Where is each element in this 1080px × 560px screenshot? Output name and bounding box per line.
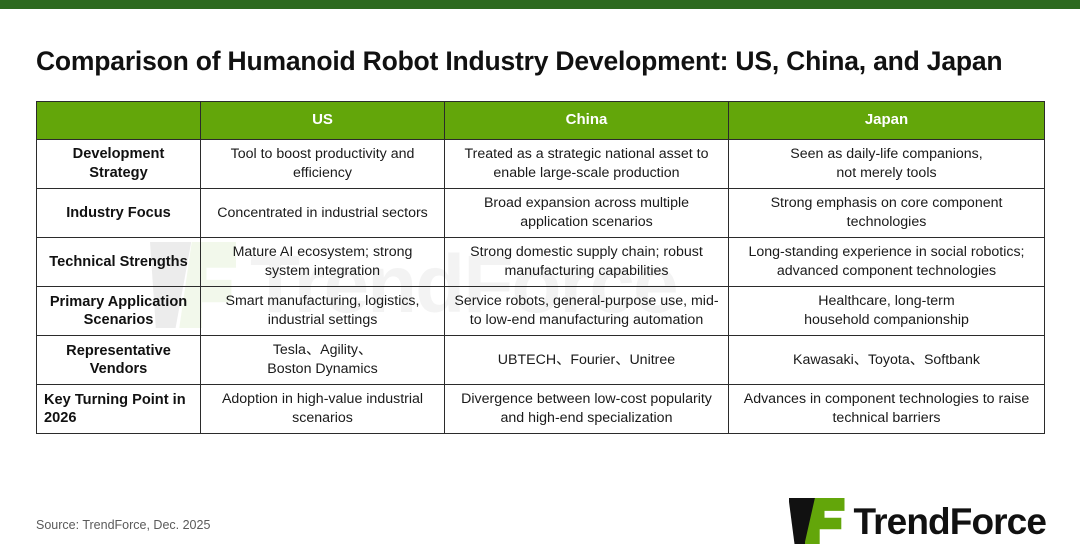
row-label-primary-application-scenarios: Primary Application Scenarios — [37, 287, 201, 336]
page-title: Comparison of Humanoid Robot Industry De… — [36, 46, 1056, 77]
cell-primary-application-scenarios-us: Smart manufacturing, logistics, industri… — [201, 287, 445, 336]
cell-industry-focus-us: Concentrated in industrial sectors — [201, 189, 445, 238]
cell-technical-strengths-china: Strong domestic supply chain; robust man… — [445, 238, 729, 287]
row-label-key-turning-point-2026: Key Turning Point in 2026 — [37, 385, 201, 434]
cell-representative-vendors-japan: Kawasaki、Toyota、Softbank — [729, 336, 1045, 385]
top-accent-bar — [0, 0, 1080, 9]
row-label-development-strategy: Development Strategy — [37, 140, 201, 189]
comparison-table: US China Japan Development Strategy Tool… — [36, 101, 1045, 434]
cell-primary-application-scenarios-japan: Healthcare, long-term household companio… — [729, 287, 1045, 336]
table-row: Key Turning Point in 2026 Adoption in hi… — [37, 385, 1045, 434]
logo-wordmark: TrendForce — [854, 503, 1047, 540]
table-header-row: US China Japan — [37, 102, 1045, 140]
table-header-us: US — [201, 102, 445, 140]
cell-technical-strengths-japan: Long-standing experience in social robot… — [729, 238, 1045, 287]
cell-development-strategy-japan: Seen as daily-life companions, not merel… — [729, 140, 1045, 189]
table-header-corner — [37, 102, 201, 140]
table-row: Representative Vendors Tesla、Agility、 Bo… — [37, 336, 1045, 385]
trendforce-logo: TrendForce — [789, 497, 1047, 545]
table-row: Primary Application Scenarios Smart manu… — [37, 287, 1045, 336]
cell-industry-focus-china: Broad expansion across multiple applicat… — [445, 189, 729, 238]
table-body: Development Strategy Tool to boost produ… — [37, 140, 1045, 434]
row-label-representative-vendors: Representative Vendors — [37, 336, 201, 385]
trendforce-logo-mark-icon — [789, 498, 845, 544]
cell-industry-focus-japan: Strong emphasis on core component techno… — [729, 189, 1045, 238]
row-label-industry-focus: Industry Focus — [37, 189, 201, 238]
row-label-technical-strengths: Technical Strengths — [37, 238, 201, 287]
table-header-japan: Japan — [729, 102, 1045, 140]
table-row: Development Strategy Tool to boost produ… — [37, 140, 1045, 189]
cell-representative-vendors-us: Tesla、Agility、 Boston Dynamics — [201, 336, 445, 385]
table-row: Technical Strengths Mature AI ecosystem;… — [37, 238, 1045, 287]
cell-representative-vendors-china: UBTECH、Fourier、Unitree — [445, 336, 729, 385]
cell-development-strategy-china: Treated as a strategic national asset to… — [445, 140, 729, 189]
cell-key-turning-point-china: Divergence between low-cost popularity a… — [445, 385, 729, 434]
table-row: Industry Focus Concentrated in industria… — [37, 189, 1045, 238]
cell-primary-application-scenarios-china: Service robots, general-purpose use, mid… — [445, 287, 729, 336]
table-header-china: China — [445, 102, 729, 140]
cell-technical-strengths-us: Mature AI ecosystem; strong system integ… — [201, 238, 445, 287]
cell-development-strategy-us: Tool to boost productivity and efficienc… — [201, 140, 445, 189]
source-note: Source: TrendForce, Dec. 2025 — [36, 518, 210, 532]
cell-key-turning-point-us: Adoption in high-value industrial scenar… — [201, 385, 445, 434]
cell-key-turning-point-japan: Advances in component technologies to ra… — [729, 385, 1045, 434]
